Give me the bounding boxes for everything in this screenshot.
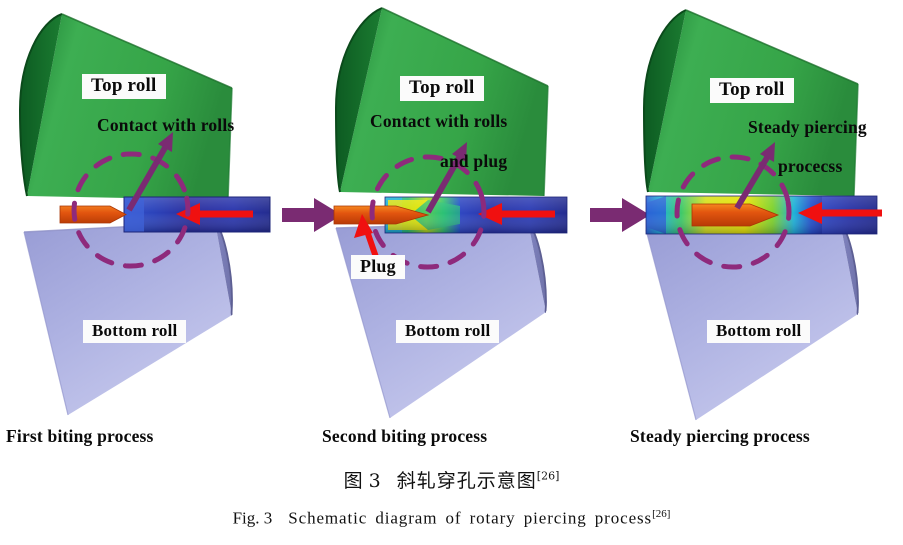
figure-caption-english: Fig. 3Schematic diagram of rotary pierci… xyxy=(0,508,903,529)
stage-caption: First biting process xyxy=(6,427,154,445)
bottom-roll-label: Bottom roll xyxy=(396,320,499,343)
panel-first-biting: Top roll Contact with rolls Bottom roll … xyxy=(0,0,300,460)
figure-caption-zh-reference: [26] xyxy=(537,470,560,483)
bottom-roll-label: Bottom roll xyxy=(707,320,810,343)
top-roll-label: Top roll xyxy=(400,76,484,101)
figure-caption-en-reference: [26] xyxy=(652,508,670,520)
figure-rotary-piercing: Top roll Contact with rolls Bottom roll … xyxy=(0,0,903,545)
figure-caption-zh-body: 斜轧穿孔示意图 xyxy=(397,470,537,492)
figure-caption-zh-prefix: 图 3 xyxy=(344,470,381,492)
figure-caption-en-prefix: Fig. 3 xyxy=(233,509,273,528)
panel-steady-piercing-graphic xyxy=(620,0,903,460)
stage-caption: Steady piercing process xyxy=(630,427,810,445)
steady-annotation-line1: Steady piercing xyxy=(748,118,867,136)
bottom-roll-shape xyxy=(24,222,232,415)
contact-annotation-line1: Contact with rolls xyxy=(370,112,507,130)
contact-annotation-line1: Contact with rolls xyxy=(97,116,234,134)
panel-steady-piercing: Top roll Steady piercing procecss Bottom… xyxy=(620,0,903,460)
contact-annotation-line2: and plug xyxy=(440,152,507,170)
panel-second-biting: Top roll Contact with rolls and plug Plu… xyxy=(310,0,610,460)
stage-caption: Second biting process xyxy=(322,427,487,445)
top-roll-shape xyxy=(20,14,232,200)
figure-caption-chinese: 图 3斜轧穿孔示意图[26] xyxy=(0,466,903,493)
top-roll-label: Top roll xyxy=(82,74,166,99)
panel-row: Top roll Contact with rolls Bottom roll … xyxy=(0,0,903,460)
plug-shape xyxy=(60,206,126,223)
plug-label: Plug xyxy=(351,255,405,279)
panel-first-biting-graphic xyxy=(0,0,300,460)
top-roll-label: Top roll xyxy=(710,78,794,103)
steady-annotation-line2: procecss xyxy=(778,157,842,175)
bottom-roll-label: Bottom roll xyxy=(83,320,186,343)
figure-caption-en-body: Schematic diagram of rotary piercing pro… xyxy=(288,509,652,528)
panel-second-biting-graphic xyxy=(310,0,610,460)
